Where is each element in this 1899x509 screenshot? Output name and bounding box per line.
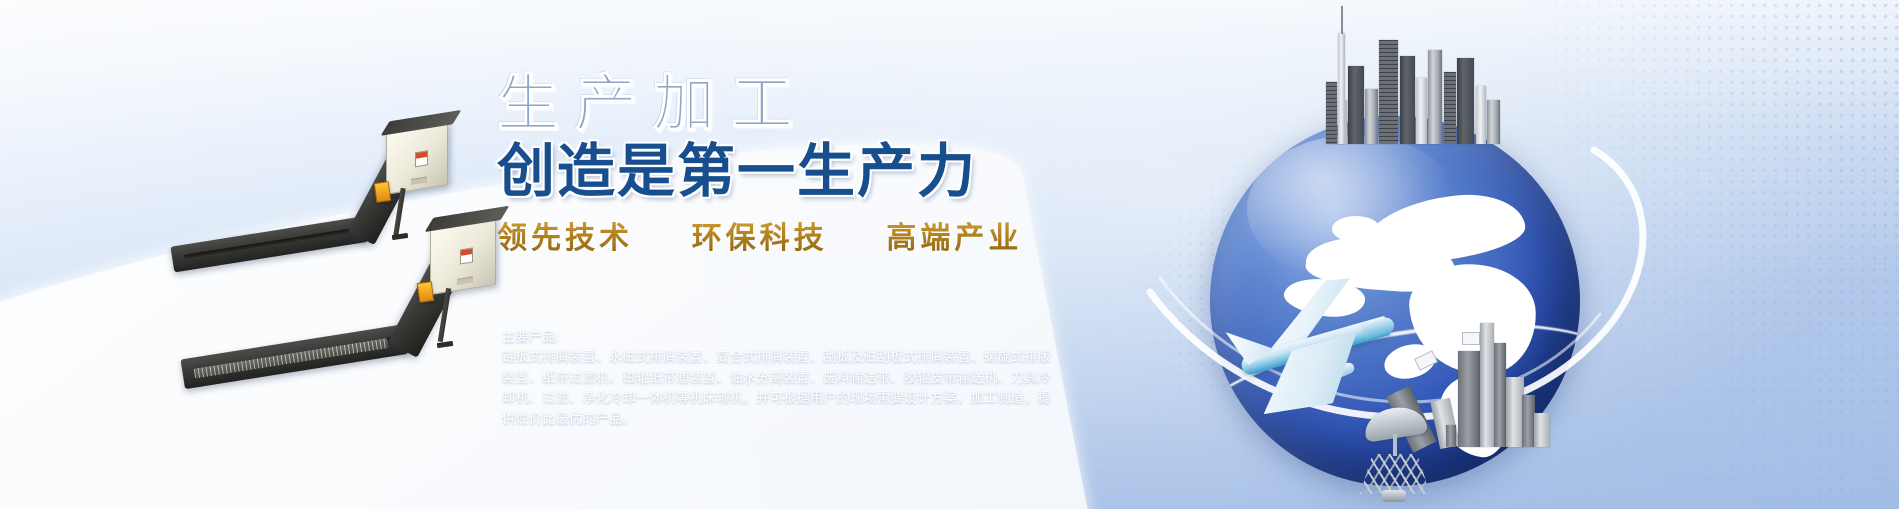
conveyor-control-head: [386, 121, 448, 195]
building: [1457, 58, 1474, 144]
chip-conveyor-machine: [150, 192, 550, 372]
tagline-part-2: 环保科技: [692, 222, 828, 255]
satellite-truss: [1360, 454, 1430, 494]
tagline-part-1: 领先技术: [497, 222, 633, 255]
building: [1444, 72, 1456, 144]
tower: [1494, 343, 1506, 447]
satellite-pod: [1382, 490, 1406, 502]
city-skyline-icon: [1320, 0, 1510, 144]
building-panel: [1414, 350, 1438, 370]
nameplate: [411, 176, 427, 185]
building: [1476, 86, 1486, 144]
building: [1400, 56, 1415, 144]
building: [1416, 78, 1427, 144]
satellite-icon: [1330, 408, 1460, 504]
tower: [1480, 323, 1494, 447]
amber-indicator-box: [417, 281, 435, 303]
nameplate: [457, 276, 473, 285]
building: [1487, 100, 1500, 144]
tagline-part-3: 高端产业: [886, 222, 1022, 255]
building: [1458, 351, 1480, 447]
promo-banner: 生产加工 创造是第一生产力 领先技术 环保科技 高端产业 主要产品: 链板式排屑…: [0, 0, 1899, 509]
head-top-face: [381, 110, 462, 136]
conveyor-control-head: [430, 217, 496, 295]
building: [1379, 40, 1398, 144]
building-panel: [1462, 332, 1480, 345]
building: [1534, 413, 1550, 447]
antenna-spire: [1341, 6, 1343, 34]
building: [1365, 89, 1378, 144]
globe-composition: [1142, 0, 1662, 509]
building: [1348, 66, 1364, 144]
tower: [1338, 32, 1345, 144]
satellite-mast: [1393, 434, 1397, 456]
warning-label-icon: [415, 150, 428, 167]
warning-label-icon: [460, 248, 473, 265]
building: [1428, 50, 1442, 144]
support-foot: [437, 341, 454, 348]
building: [1326, 82, 1337, 144]
